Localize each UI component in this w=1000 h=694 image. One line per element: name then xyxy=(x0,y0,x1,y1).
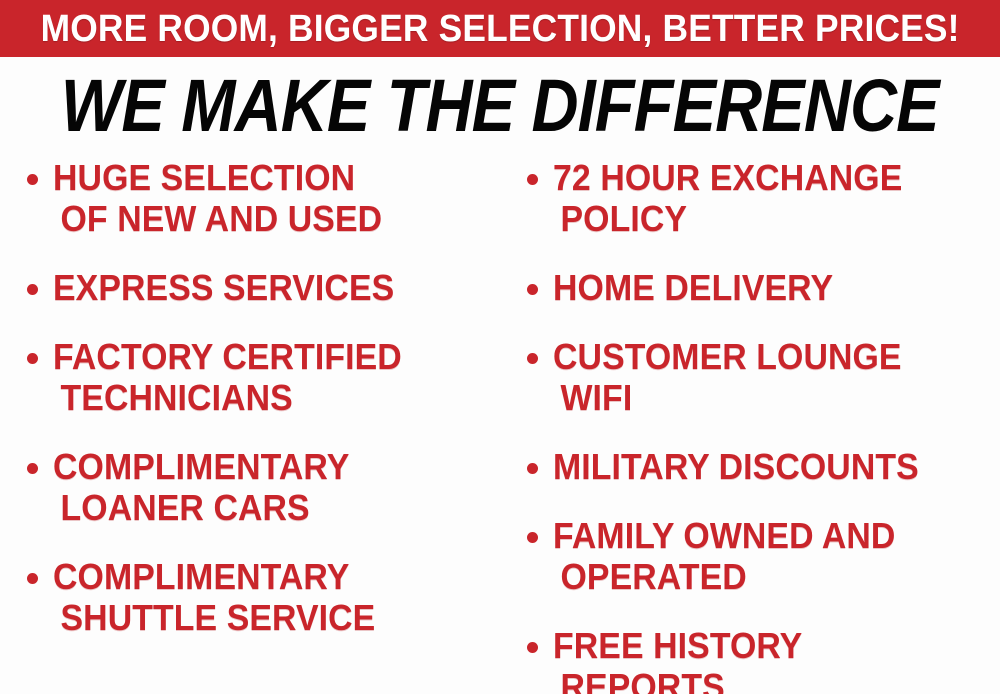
benefit-line-1: HOME DELIVERY xyxy=(553,267,833,308)
benefit-text: FREE HISTORY REPORTS xyxy=(553,625,973,694)
benefit-line-1: EXPRESS SERVICES xyxy=(53,267,394,308)
benefit-line-2: OPERATED xyxy=(553,556,973,597)
benefit-text: COMPLIMENTARY LOANER CARS xyxy=(53,446,473,528)
benefit-item: 72 HOUR EXCHANGE POLICY xyxy=(518,157,1000,239)
bullet-icon xyxy=(527,353,538,364)
benefit-item: FREE HISTORY REPORTS xyxy=(518,625,1000,694)
benefit-line-2: LOANER CARS xyxy=(53,487,473,528)
promo-banner-text: MORE ROOM, BIGGER SELECTION, BETTER PRIC… xyxy=(40,10,959,48)
bullet-icon xyxy=(527,174,538,185)
bullet-icon xyxy=(27,573,38,584)
benefit-line-1: CUSTOMER LOUNGE xyxy=(553,336,902,377)
benefit-line-1: COMPLIMENTARY xyxy=(53,556,349,597)
benefit-text: COMPLIMENTARY SHUTTLE SERVICE xyxy=(53,556,473,638)
benefit-line-1: FAMILY OWNED AND xyxy=(553,515,895,556)
benefit-line-1: FREE HISTORY xyxy=(553,625,802,666)
benefit-line-2: SHUTTLE SERVICE xyxy=(53,597,473,638)
benefit-item: COMPLIMENTARY LOANER CARS xyxy=(18,446,500,528)
bullet-icon xyxy=(527,284,538,295)
bullet-icon xyxy=(527,642,538,653)
benefit-item: FAMILY OWNED AND OPERATED xyxy=(518,515,1000,597)
benefit-line-2: TECHNICIANS xyxy=(53,377,473,418)
benefit-text: MILITARY DISCOUNTS xyxy=(553,446,973,487)
benefit-item: FACTORY CERTIFIED TECHNICIANS xyxy=(18,336,500,418)
headline: WE MAKE THE DIFFERENCE xyxy=(0,62,1000,150)
bullet-icon xyxy=(27,353,38,364)
bullet-icon xyxy=(27,284,38,295)
benefits-right-column: 72 HOUR EXCHANGE POLICY HOME DELIVERY CU… xyxy=(518,157,1000,694)
benefit-item: COMPLIMENTARY SHUTTLE SERVICE xyxy=(18,556,500,638)
bullet-icon xyxy=(527,532,538,543)
benefit-line-2: WIFI xyxy=(553,377,973,418)
bullet-icon xyxy=(27,463,38,474)
bullet-icon xyxy=(527,463,538,474)
benefit-line-2: OF NEW AND USED xyxy=(53,198,473,239)
benefit-line-1: FACTORY CERTIFIED xyxy=(53,336,402,377)
benefit-text: HUGE SELECTION OF NEW AND USED xyxy=(53,157,473,239)
benefit-text: FAMILY OWNED AND OPERATED xyxy=(553,515,973,597)
benefit-item: MILITARY DISCOUNTS xyxy=(518,446,1000,487)
benefits-left-column: HUGE SELECTION OF NEW AND USED EXPRESS S… xyxy=(18,157,500,694)
benefits-list: HUGE SELECTION OF NEW AND USED EXPRESS S… xyxy=(0,157,1000,694)
benefit-text: 72 HOUR EXCHANGE POLICY xyxy=(553,157,973,239)
benefit-item: HUGE SELECTION OF NEW AND USED xyxy=(18,157,500,239)
benefit-text: HOME DELIVERY xyxy=(553,267,973,308)
benefit-item: CUSTOMER LOUNGE WIFI xyxy=(518,336,1000,418)
benefit-line-2: REPORTS xyxy=(553,666,973,694)
benefit-line-1: HUGE SELECTION xyxy=(53,157,355,198)
headline-text: WE MAKE THE DIFFERENCE xyxy=(61,69,939,143)
benefit-item: EXPRESS SERVICES xyxy=(18,267,500,308)
benefit-line-1: MILITARY DISCOUNTS xyxy=(553,446,919,487)
benefit-line-2: POLICY xyxy=(553,198,973,239)
benefit-text: EXPRESS SERVICES xyxy=(53,267,473,308)
bullet-icon xyxy=(27,174,38,185)
benefit-text: CUSTOMER LOUNGE WIFI xyxy=(553,336,973,418)
benefit-line-1: 72 HOUR EXCHANGE xyxy=(553,157,902,198)
dealership-benefits-poster: MORE ROOM, BIGGER SELECTION, BETTER PRIC… xyxy=(0,0,1000,694)
benefit-text: FACTORY CERTIFIED TECHNICIANS xyxy=(53,336,473,418)
benefit-item: HOME DELIVERY xyxy=(518,267,1000,308)
benefit-line-1: COMPLIMENTARY xyxy=(53,446,349,487)
promo-banner: MORE ROOM, BIGGER SELECTION, BETTER PRIC… xyxy=(0,0,1000,57)
